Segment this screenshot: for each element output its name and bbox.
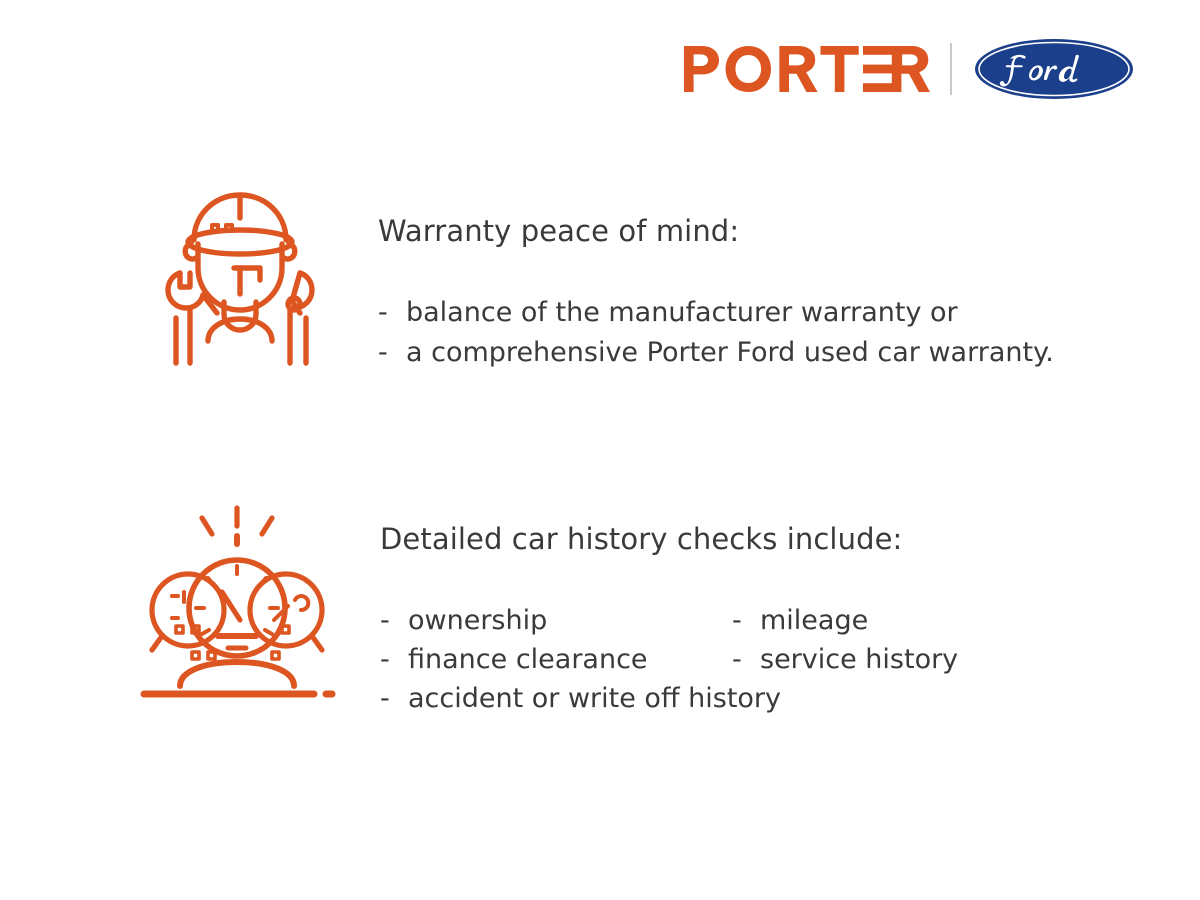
- bullet-text: accident or write off history: [408, 679, 781, 719]
- dashboard-gauges-icon: [132, 500, 342, 700]
- bullet-text: balance of the manufacturer warranty or: [406, 293, 958, 333]
- history-text-column: Detailed car history checks include: - o…: [380, 500, 958, 718]
- section-warranty: Warranty peace of mind: - balance of the…: [150, 178, 1054, 378]
- bullet-item: - service history: [732, 640, 958, 680]
- history-heading: Detailed car history checks include:: [380, 522, 958, 557]
- bullet-item: - a comprehensive Porter Ford used car w…: [378, 333, 1054, 373]
- warranty-heading: Warranty peace of mind:: [378, 214, 1054, 249]
- bullet-item: - ownership: [380, 601, 732, 641]
- slide-root: { "brand": { "porter_text": "PORTER", "f…: [0, 0, 1200, 900]
- ford-oval-logo: [974, 38, 1134, 100]
- bullet-item: - mileage: [732, 601, 958, 641]
- bullet-item: - balance of the manufacturer warranty o…: [378, 293, 1054, 333]
- bullet-dash: -: [732, 640, 760, 680]
- bullet-dash: -: [732, 601, 760, 641]
- bullet-dash: -: [378, 333, 406, 373]
- mechanic-icon: [150, 178, 330, 378]
- bullet-dash: -: [380, 679, 408, 719]
- bullet-text: finance clearance: [408, 640, 648, 680]
- logo-divider: [950, 43, 952, 95]
- bullet-text: mileage: [760, 601, 868, 641]
- section-history-checks: Detailed car history checks include: - o…: [132, 500, 958, 718]
- bullet-text: a comprehensive Porter Ford used car war…: [406, 333, 1054, 373]
- warranty-text-column: Warranty peace of mind: - balance of the…: [378, 178, 1054, 373]
- bullet-item: - finance clearance: [380, 640, 732, 680]
- history-bullet-grid: - ownership - mileage - finance clearanc…: [380, 601, 958, 718]
- warranty-bullet-list: - balance of the manufacturer warranty o…: [378, 293, 1054, 373]
- bullet-item: - accident or write off history: [380, 679, 958, 719]
- brand-logo-lockup: [684, 36, 1134, 102]
- porter-wordmark: [684, 46, 930, 92]
- bullet-dash: -: [380, 601, 408, 641]
- bullet-text: service history: [760, 640, 958, 680]
- bullet-dash: -: [380, 640, 408, 680]
- bullet-text: ownership: [408, 601, 547, 641]
- bullet-dash: -: [378, 293, 406, 333]
